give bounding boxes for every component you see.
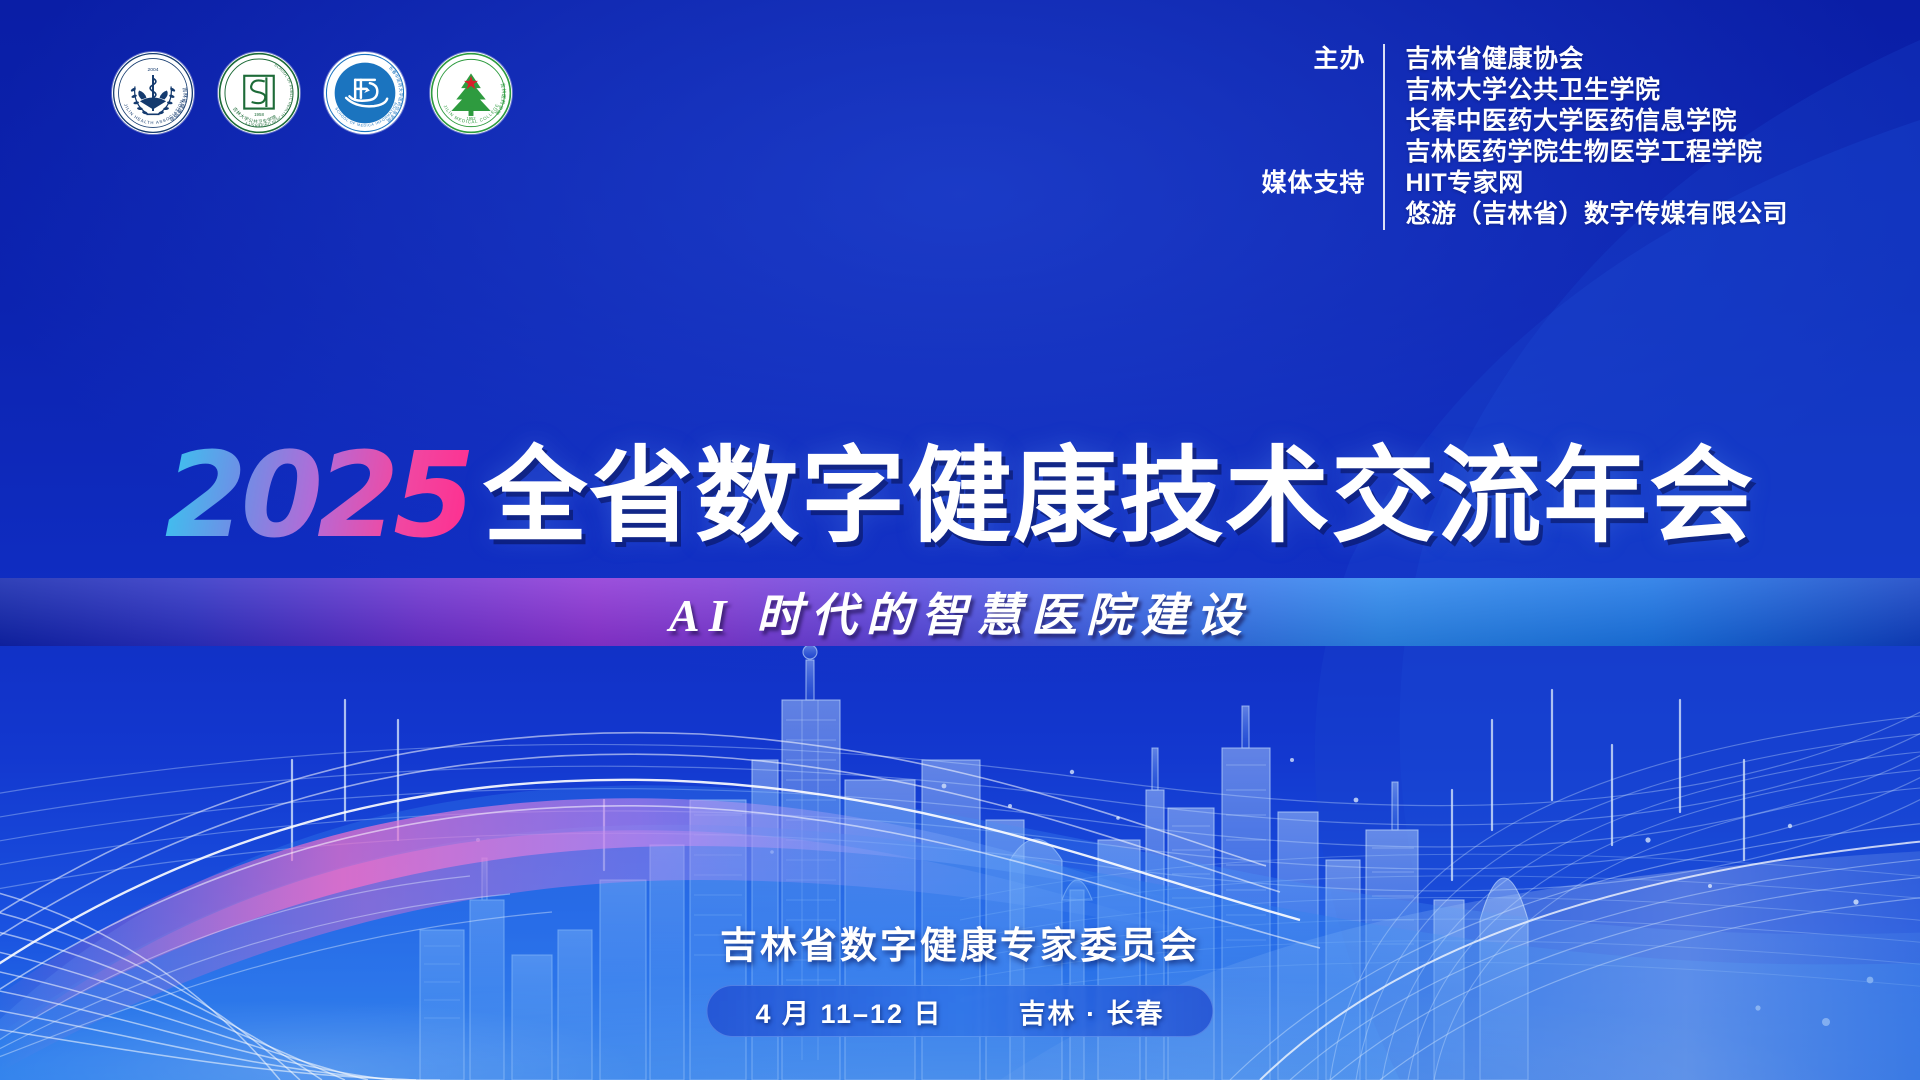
- title-year: 2025: [165, 436, 469, 554]
- organizer-label: 主办: [1261, 44, 1365, 75]
- organizer-value: HIT专家网: [1405, 168, 1788, 199]
- organizer-value: 悠游（吉林省）数字传媒有限公司: [1405, 199, 1788, 230]
- logo-changchun-medical-information: 长春中医药大学医药信息学院 SCHOOL OF MEDICA INFORMATI…: [324, 52, 406, 134]
- organizer-label: 媒体支持: [1261, 168, 1365, 199]
- organizer-value: 吉林省健康协会: [1405, 44, 1788, 75]
- svg-text:1958: 1958: [254, 112, 264, 117]
- event-date: 4 月 11–12 日: [755, 992, 942, 1031]
- organizer-value: 吉林大学公共卫生学院: [1405, 75, 1788, 106]
- main-title: 2025 全省数字健康技术交流年会: [0, 432, 1920, 550]
- title-text: 全省数字健康技术交流年会: [483, 445, 1755, 549]
- organizer-labels: 主办 媒体支持: [1261, 44, 1383, 230]
- organizer-credits: 主办 媒体支持 吉林省健康协会 吉林大学公共卫生学院 长春中医药大学医药信息学院…: [1261, 44, 1788, 230]
- organizer-values: 吉林省健康协会 吉林大学公共卫生学院 长春中医药大学医药信息学院 吉林医药学院生…: [1383, 44, 1788, 230]
- logo-jilin-health-association: 吉林省健康协会 JILIN HEALTH ASSOCIATION 2004: [112, 52, 194, 134]
- date-location-bar: 4 月 11–12 日 吉林 · 长春: [706, 985, 1213, 1037]
- organizer-logos: 吉林省健康协会 JILIN HEALTH ASSOCIATION 2004: [112, 52, 512, 134]
- logo-jilin-university-public-health: SCHOOL OF PUBLIC HEALTH JILIN UNIVERSITY…: [218, 52, 300, 134]
- conference-poster: 吉林省健康协会 JILIN HEALTH ASSOCIATION 2004: [0, 0, 1920, 1080]
- organizer-value: 吉林医药学院生物医学工程学院: [1405, 137, 1788, 168]
- logo-jilin-medical-college: 吉林医药学院 JILIN MEDICAL COLLEGE 1952: [430, 52, 512, 134]
- subtitle-text: AI 时代的智慧医院建设: [0, 578, 1920, 646]
- svg-text:2004: 2004: [148, 67, 159, 73]
- committee-name: 吉林省数字健康专家委员会: [0, 915, 1920, 969]
- organizer-value: 长春中医药大学医药信息学院: [1405, 106, 1788, 137]
- svg-text:1952: 1952: [466, 116, 476, 121]
- event-location: 吉林 · 长春: [1019, 992, 1165, 1031]
